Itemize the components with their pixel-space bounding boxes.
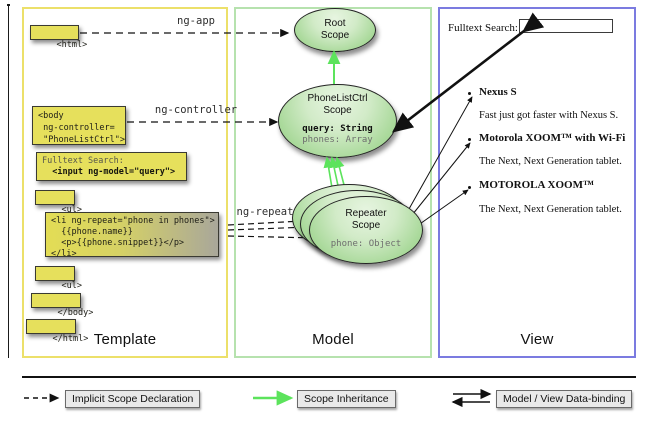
- ellipse-root-scope-line1: Root: [324, 18, 345, 29]
- view-item-title-1: Nexus S: [479, 86, 517, 98]
- ellipse-repeater-scope-props: phone: Object: [331, 239, 401, 250]
- code-box-ul-open[interactable]: <ul>: [35, 190, 75, 205]
- code-box-li-repeat-line3: <p>{{phone.snippet}}</p>: [51, 238, 184, 248]
- code-box-li-repeat-line1: <li ng-repeat="phone in phones">: [51, 216, 215, 226]
- code-box-body-close-text: </body>: [57, 308, 93, 318]
- code-box-body-open[interactable]: <body ng-controller= "PhoneListCtrl">: [32, 106, 126, 145]
- code-box-search-label: Fulltext Search:: [42, 156, 124, 166]
- code-box-body-close[interactable]: </body>: [31, 293, 81, 308]
- ellipse-phonelistctrl-scope[interactable]: PhoneListCtrlScope query: String phones:…: [278, 84, 397, 158]
- ellipse-phonelistctrl-scope-line1: PhoneListCtrl: [307, 93, 367, 104]
- code-box-ul-close[interactable]: <ul>: [35, 266, 75, 281]
- code-box-ul-close-text: <ul>: [61, 281, 81, 291]
- code-box-li-repeat-line2: {{phone.name}}: [51, 227, 133, 237]
- legend-label-scope-inheritance: Scope Inheritance: [304, 393, 389, 405]
- ellipse-repeater-scope-line1: Repeater: [345, 208, 386, 219]
- legend-item-model-view-data-binding: Model / View Data-binding: [496, 390, 632, 408]
- view-bullet-2: [468, 138, 471, 141]
- view-item-title-3: MOTOROLA XOOM™: [479, 179, 594, 191]
- code-box-html-open-text: <html>: [56, 40, 87, 50]
- prop-query-string: query: String: [302, 124, 372, 135]
- code-box-search-markup[interactable]: Fulltext Search: <input ng-model="query"…: [36, 152, 187, 181]
- ellipse-repeater-scope-label: RepeaterScope: [345, 208, 386, 232]
- panel-model-title: Model: [236, 331, 430, 348]
- panel-model: Model: [234, 7, 432, 358]
- view-search-input[interactable]: [519, 19, 613, 33]
- legend-item-scope-inheritance: Scope Inheritance: [297, 390, 396, 408]
- prop-phone-object: phone: Object: [331, 239, 401, 250]
- code-box-html-open[interactable]: <html>: [30, 25, 79, 40]
- ellipse-repeater-scope[interactable]: RepeaterScope phone: Object: [309, 196, 423, 264]
- code-box-li-repeat-line4: </li>: [51, 249, 77, 259]
- view-bullet-3: [468, 186, 471, 189]
- ellipse-root-scope-label: RootScope: [321, 18, 349, 42]
- code-box-body-open-line2: ng-controller=: [38, 123, 115, 133]
- diagram-canvas: Template <html> <body ng-controller= "Ph…: [0, 0, 645, 425]
- code-box-search-code: <input ng-model="query">: [52, 167, 175, 177]
- ellipse-phonelistctrl-scope-label: PhoneListCtrlScope: [307, 93, 367, 117]
- code-box-body-open-line1: <body: [38, 111, 64, 121]
- view-item-snippet-2: The Next, Next Generation tablet.: [479, 156, 622, 167]
- code-box-html-close-text: </html>: [52, 334, 88, 344]
- panel-view-title: View: [440, 331, 634, 348]
- code-box-li-repeat[interactable]: <li ng-repeat="phone in phones"> {{phone…: [45, 212, 219, 257]
- ellipse-phonelistctrl-scope-line2: Scope: [323, 105, 351, 116]
- ellipse-root-scope[interactable]: RootScope: [294, 8, 376, 52]
- code-box-body-open-line3: "PhoneListCtrl">: [38, 135, 125, 145]
- view-item-snippet-3: The Next, Next Generation tablet.: [479, 204, 622, 215]
- view-bullet-1: [468, 92, 471, 95]
- ellipse-root-scope-line2: Scope: [321, 30, 349, 41]
- legend-item-implicit-scope-declaration: Implicit Scope Declaration: [65, 390, 200, 408]
- legend-divider: [22, 376, 636, 378]
- prop-phones-array: phones: Array: [302, 135, 372, 146]
- legend-label-model-view-data-binding: Model / View Data-binding: [503, 393, 625, 405]
- code-box-html-close[interactable]: </html>: [26, 319, 76, 334]
- view-item-snippet-1: Fast just got faster with Nexus S.: [479, 110, 618, 121]
- ellipse-phonelistctrl-scope-props: query: String phones: Array: [302, 124, 372, 146]
- view-item-title-2: Motorola XOOM™ with Wi-Fi: [479, 132, 625, 144]
- ellipse-repeater-scope-line2: Scope: [352, 220, 380, 231]
- legend-label-implicit-scope-declaration: Implicit Scope Declaration: [72, 393, 193, 405]
- page-edge-tick: [7, 4, 10, 6]
- page-edge-rule: [8, 6, 9, 358]
- view-search-label: Fulltext Search:: [448, 22, 518, 34]
